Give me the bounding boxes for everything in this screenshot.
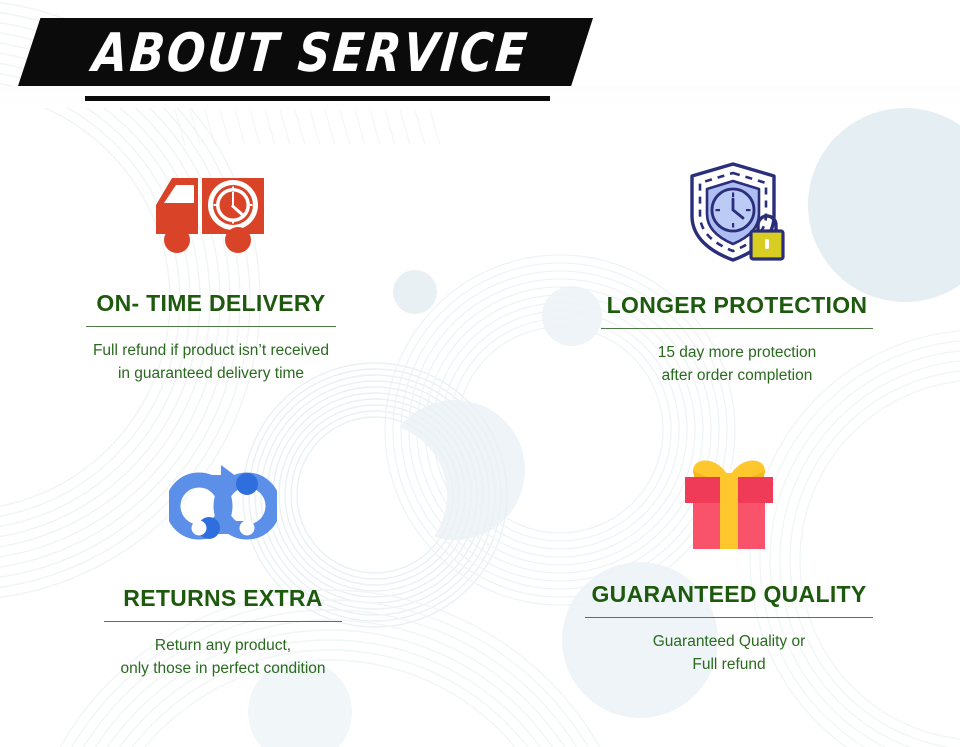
feature-divider [104, 621, 342, 622]
return-cycle-icon [169, 461, 277, 545]
feature-title: LONGER PROTECTION [607, 294, 868, 317]
feature-card-on-time-delivery: ON- TIME DELIVERY Full refund if product… [0, 110, 480, 429]
page-header: ABOUT SERVICE [0, 0, 960, 110]
feature-divider [601, 328, 873, 329]
feature-card-guaranteed-quality: GUARANTEED QUALITY Guaranteed Quality or… [480, 429, 960, 747]
shield-clock-lock-icon [683, 160, 791, 266]
feature-divider [86, 326, 336, 327]
feature-title: RETURNS EXTRA [123, 587, 322, 610]
header-banner: ABOUT SERVICE [18, 18, 593, 86]
feature-grid: ON- TIME DELIVERY Full refund if product… [0, 110, 960, 747]
feature-title: ON- TIME DELIVERY [96, 292, 325, 315]
feature-body: Guaranteed Quality or Full refund [653, 630, 806, 677]
feature-divider [585, 617, 873, 618]
delivery-truck-icon [150, 172, 272, 258]
header-underline-bar [85, 96, 550, 101]
feature-card-returns-extra: RETURNS EXTRA Return any product, only t… [0, 429, 480, 747]
feature-body: Full refund if product isn’t received in… [93, 339, 329, 386]
feature-body: 15 day more protection after order compl… [658, 341, 817, 388]
feature-body: Return any product, only those in perfec… [120, 634, 325, 681]
feature-card-longer-protection: LONGER PROTECTION 15 day more protection… [480, 110, 960, 429]
page-title: ABOUT SERVICE [72, 25, 539, 78]
feature-title: GUARANTEED QUALITY [591, 583, 866, 606]
gift-box-icon [673, 451, 785, 551]
